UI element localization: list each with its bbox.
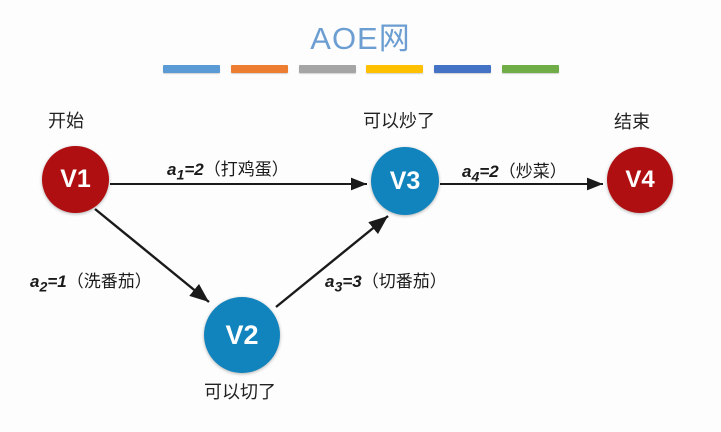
edge-label-a2: a2=1（洗番茄） [30, 267, 152, 295]
edge-label-a4: a4=2（炒菜） [462, 157, 567, 185]
edge-a3-activity: （切番茄） [362, 272, 447, 291]
edge-a4-weight: =2 [479, 162, 498, 181]
node-v2[interactable]: V2 [204, 297, 280, 373]
edge-a1-weight: =2 [184, 160, 203, 179]
node-caption-v2: 可以切了 [204, 378, 276, 404]
node-caption-v4: 结束 [614, 108, 650, 134]
edge-a4-activity: （炒菜） [499, 162, 567, 181]
edge-a1-activity: （打鸡蛋） [204, 160, 289, 179]
aoe-network-slide: AOE网 V1 V2 V3 V4 开始 可以切了 可以炒了 结束 a1=2（打鸡… [0, 0, 721, 432]
node-caption-v1: 开始 [48, 107, 84, 133]
node-v4[interactable]: V4 [607, 147, 673, 213]
edge-a3-weight: =3 [342, 272, 361, 291]
edge-a2-activity: （洗番茄） [67, 272, 152, 291]
node-caption-v3: 可以炒了 [363, 107, 435, 133]
node-v3[interactable]: V3 [371, 147, 439, 215]
graph-edges-layer [0, 0, 721, 432]
node-v1[interactable]: V1 [42, 146, 109, 213]
edge-a2-weight: =1 [47, 272, 66, 291]
edge-label-a1: a1=2（打鸡蛋） [167, 155, 289, 183]
edge-label-a3: a3=3（切番茄） [325, 267, 447, 295]
